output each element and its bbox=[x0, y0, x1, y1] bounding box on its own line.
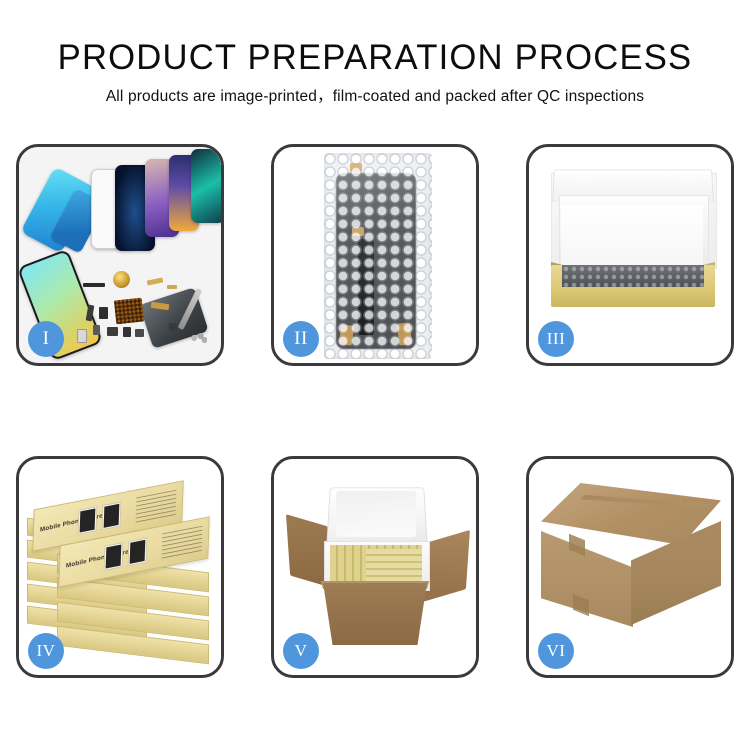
step-badge-2: II bbox=[283, 321, 319, 357]
retail-box-spec-lines bbox=[162, 526, 203, 560]
process-step-panel-4: Mobile Phone Spare Parts Mobile Phone Sp… bbox=[16, 456, 224, 678]
process-step-panel-3: III bbox=[526, 144, 734, 366]
speaker-coil-icon bbox=[113, 271, 130, 288]
step-badge-5: V bbox=[283, 633, 319, 669]
process-step-panel-2: II bbox=[271, 144, 479, 366]
spare-part-icon bbox=[77, 329, 87, 343]
screws-icon bbox=[191, 333, 207, 343]
phone-thumbnail-icon bbox=[78, 506, 98, 535]
teal-phone-icon bbox=[191, 149, 221, 223]
step-badge-6: VI bbox=[538, 633, 574, 669]
process-step-panel-6: VI bbox=[526, 456, 734, 678]
spare-part-icon bbox=[107, 327, 118, 336]
spare-part-icon bbox=[169, 323, 177, 331]
process-step-panel-1: I bbox=[16, 144, 224, 366]
yellow-packages-secondary-icon bbox=[366, 549, 422, 583]
step-badge-3: III bbox=[538, 321, 574, 357]
page-subtitle: All products are image-printed，film-coat… bbox=[0, 86, 750, 108]
spare-part-icon bbox=[99, 307, 108, 319]
chip-grid-icon bbox=[114, 298, 144, 325]
bubble-wrap-overlay-icon bbox=[324, 153, 432, 359]
product-preparation-infographic: PRODUCT PREPARATION PROCESS All products… bbox=[0, 0, 750, 750]
spare-part-icon bbox=[83, 283, 105, 287]
carton-front-icon bbox=[316, 583, 434, 645]
phone-thumbnail-icon bbox=[102, 501, 122, 530]
header: PRODUCT PREPARATION PROCESS All products… bbox=[0, 36, 750, 108]
process-step-panel-5: V bbox=[271, 456, 479, 678]
foam-lid-inner-icon bbox=[336, 491, 416, 537]
spare-part-icon bbox=[167, 285, 177, 289]
spare-part-icon bbox=[123, 327, 131, 337]
bubble-padding-icon bbox=[562, 265, 704, 287]
phone-thumbnail-icon bbox=[128, 537, 148, 566]
step-badge-1: I bbox=[28, 321, 64, 357]
process-step-grid: I II bbox=[16, 144, 734, 682]
white-foam-sheet-icon bbox=[561, 205, 703, 267]
page-title: PRODUCT PREPARATION PROCESS bbox=[4, 36, 747, 80]
spare-part-icon bbox=[135, 329, 144, 337]
phone-thumbnail-icon bbox=[104, 542, 124, 571]
retail-box-spec-lines bbox=[136, 490, 177, 524]
step-badge-4: IV bbox=[28, 633, 64, 669]
spare-part-icon bbox=[93, 325, 100, 335]
